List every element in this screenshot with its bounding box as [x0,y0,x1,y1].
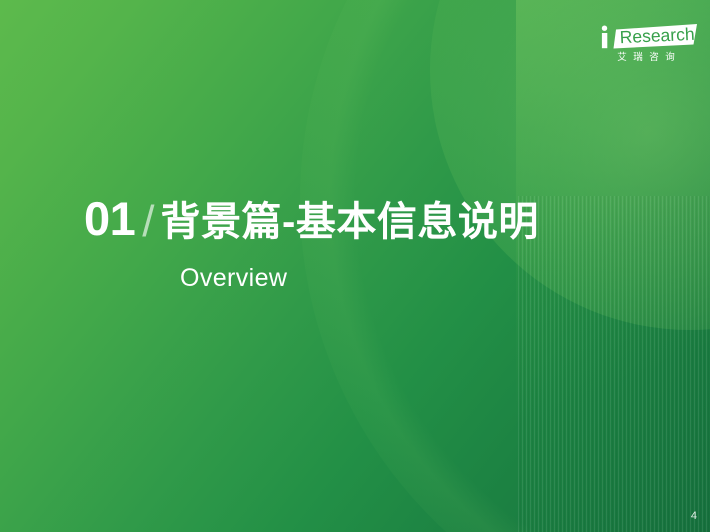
logo-research-text: Research [619,24,695,47]
background-stripe-pattern [518,196,710,532]
slide-canvas: Research 艾瑞咨询 01 / 背景篇-基本信息说明 Overview 4 [0,0,710,532]
title-separator: / [142,197,154,247]
iresearch-wordmark-icon: Research [594,22,698,52]
section-title-row: 01 / 背景篇-基本信息说明 [84,194,539,247]
iresearch-logo: Research 艾瑞咨询 [594,22,698,70]
logo-chinese-name: 艾瑞咨询 [597,51,695,64]
page-number: 4 [691,510,697,523]
section-number: 01 [84,194,135,244]
section-subtitle: Overview [180,262,287,294]
section-title-text: 背景篇-基本信息说明 [161,197,539,247]
